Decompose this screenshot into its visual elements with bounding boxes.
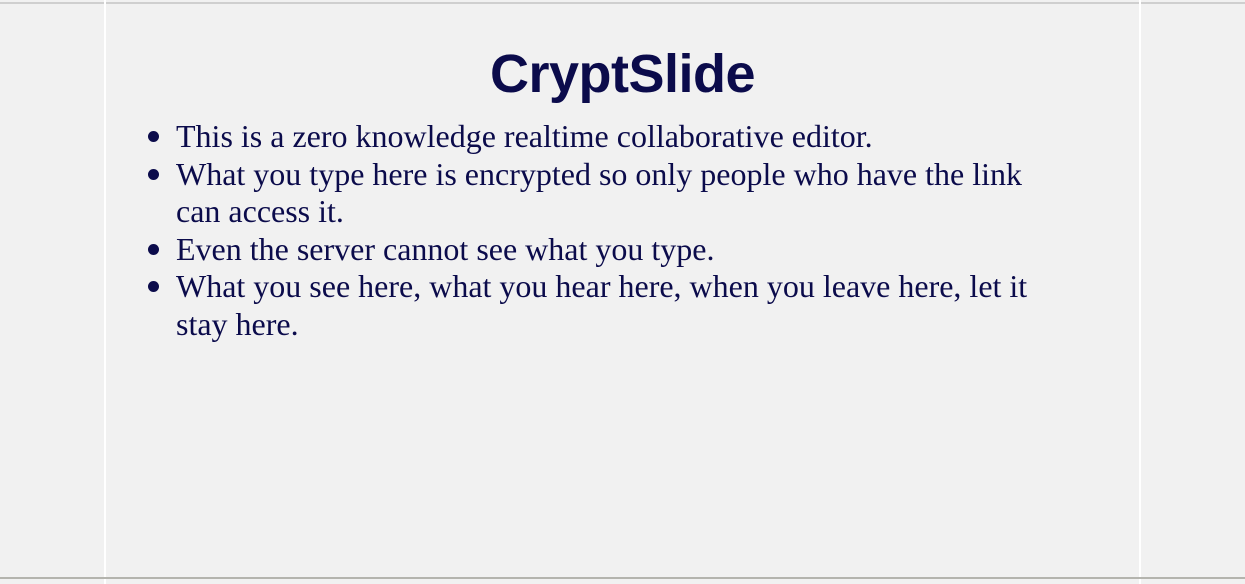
bullet-item-label: What you type here is encrypted so only … — [176, 156, 1056, 231]
bullet-dot-icon — [148, 244, 159, 255]
slide-right-edge — [1139, 0, 1141, 584]
slide-viewer: CryptSlide This is a zero knowledge real… — [0, 0, 1245, 584]
bullet-dot-icon — [148, 131, 159, 142]
bullet-list: This is a zero knowledge realtime collab… — [106, 118, 1139, 343]
bullet-item[interactable]: What you type here is encrypted so only … — [106, 156, 1116, 231]
bullet-item[interactable]: What you see here, what you hear here, w… — [106, 268, 1116, 343]
bottom-divider — [0, 577, 1245, 579]
bullet-item[interactable]: This is a zero knowledge realtime collab… — [106, 118, 1116, 156]
bullet-dot-icon — [148, 281, 159, 292]
slide-body: This is a zero knowledge realtime collab… — [106, 101, 1139, 343]
bullet-item-label: This is a zero knowledge realtime collab… — [176, 118, 1056, 156]
bullet-dot-icon — [148, 169, 159, 180]
bullet-item-label: Even the server cannot see what you type… — [176, 231, 1056, 269]
slide-title[interactable]: CryptSlide — [106, 4, 1139, 101]
slide-canvas[interactable]: CryptSlide This is a zero knowledge real… — [106, 4, 1139, 577]
bullet-item[interactable]: Even the server cannot see what you type… — [106, 231, 1116, 269]
bullet-item-label: What you see here, what you hear here, w… — [176, 268, 1056, 343]
